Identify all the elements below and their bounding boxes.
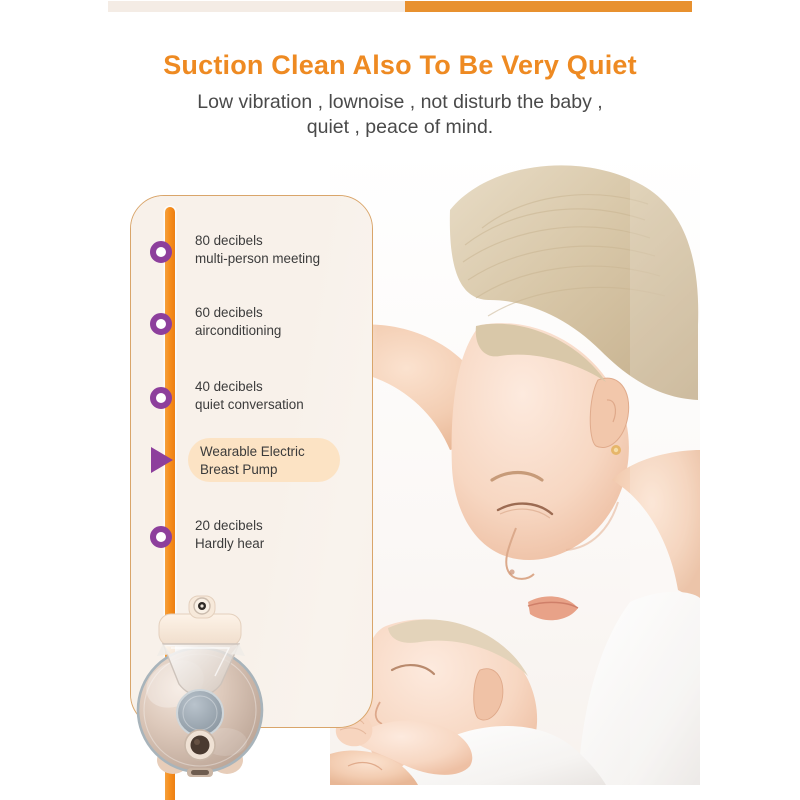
timeline-item-4-line-2: Hardly hear [195,535,264,553]
timeline-item-4[interactable]: 20 decibels Hardly hear [150,517,380,561]
page-title: Suction Clean Also To Be Very Quiet [0,50,800,81]
timeline-item-2-line-2: quiet conversation [195,396,304,414]
timeline-item-0[interactable]: 80 decibels multi-person meeting [150,232,380,276]
timeline-item-3-line-2: Breast Pump [200,461,305,479]
timeline-item-1-line-2: airconditioning [195,322,281,340]
timeline-item-4-line-1: 20 decibels [195,517,264,535]
ring-marker-icon [150,387,172,409]
timeline-item-2[interactable]: 40 decibels quiet conversation [150,378,380,422]
timeline-item-3-line-1: Wearable Electric [200,443,305,461]
timeline-item-4-text: 20 decibels Hardly hear [195,517,264,552]
top-bar-right-segment [405,1,692,12]
timeline-item-1-line-1: 60 decibels [195,304,281,322]
breast-pump-product-image [129,592,269,788]
ring-marker-icon [150,313,172,335]
page-subtitle: Low vibration , lownoise , not disturb t… [0,90,800,140]
timeline-item-1[interactable]: 60 decibels airconditioning [150,304,380,348]
ring-marker-icon [150,526,172,548]
subtitle-line-1: Low vibration , lownoise , not disturb t… [0,90,800,115]
ring-marker-icon [150,241,172,263]
timeline-item-0-line-2: multi-person meeting [195,250,320,268]
triangle-marker-icon [151,447,173,473]
top-bar-left-segment [108,1,408,12]
timeline-item-2-line-1: 40 decibels [195,378,304,396]
product-marketing-page: Suction Clean Also To Be Very Quiet Low … [0,0,800,800]
timeline-item-0-text: 80 decibels multi-person meeting [195,232,320,267]
timeline-item-2-text: 40 decibels quiet conversation [195,378,304,413]
mother-and-baby-photo [330,150,700,785]
timeline-item-3-highlighted[interactable]: Wearable Electric Breast Pump [150,440,380,484]
timeline-item-0-line-1: 80 decibels [195,232,320,250]
subtitle-line-2: quiet , peace of mind. [0,115,800,140]
timeline-item-3-text: Wearable Electric Breast Pump [200,443,305,478]
timeline-item-1-text: 60 decibels airconditioning [195,304,281,339]
